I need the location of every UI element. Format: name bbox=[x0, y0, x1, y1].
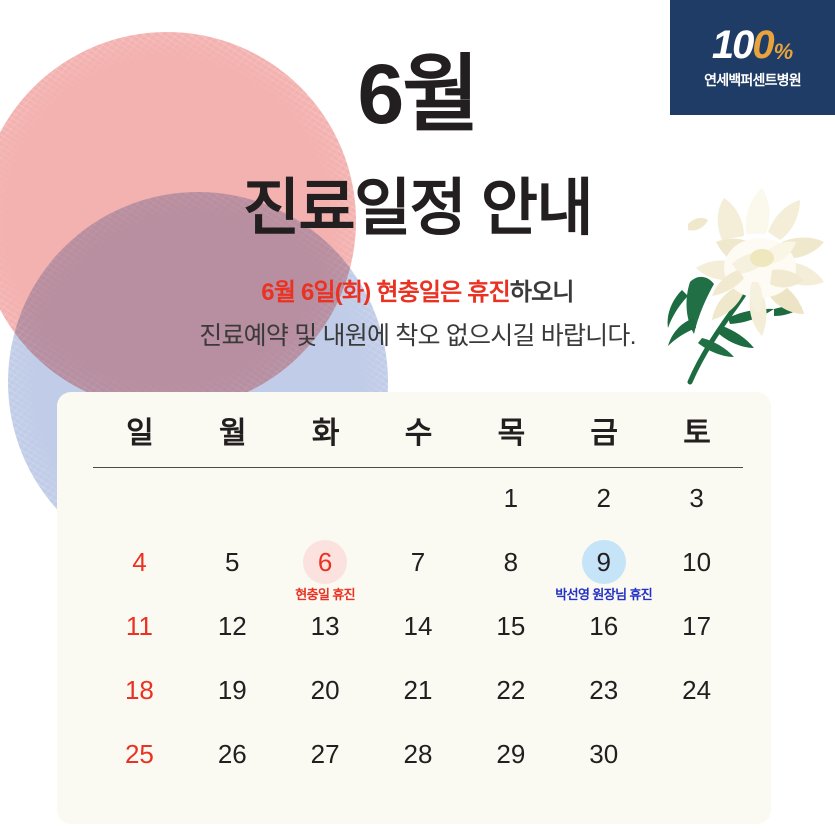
calendar-week-row: 123 bbox=[93, 476, 743, 540]
day-number: 29 bbox=[489, 732, 533, 776]
day-number: 19 bbox=[210, 668, 254, 712]
calendar-day-3[interactable]: 3 bbox=[650, 476, 743, 540]
calendar-day-16[interactable]: 16 bbox=[557, 604, 650, 668]
calendar-grid: 123456현충일 휴진789박선영 원장님 휴진101112131415161… bbox=[93, 476, 743, 796]
day-number: 4 bbox=[117, 540, 161, 584]
calendar-day-22[interactable]: 22 bbox=[464, 668, 557, 732]
header-divider bbox=[93, 467, 743, 468]
day-number: 6 bbox=[303, 540, 347, 584]
calendar-day-5[interactable]: 5 bbox=[186, 540, 279, 604]
calendar-day-12[interactable]: 12 bbox=[186, 604, 279, 668]
day-number: 24 bbox=[675, 668, 719, 712]
calendar-day-28[interactable]: 28 bbox=[372, 732, 465, 796]
day-number: 2 bbox=[582, 476, 626, 520]
day-note: 현충일 휴진 bbox=[295, 584, 355, 603]
calendar-day-7[interactable]: 7 bbox=[372, 540, 465, 604]
calendar-day-23[interactable]: 23 bbox=[557, 668, 650, 732]
day-number: 22 bbox=[489, 668, 533, 712]
calendar-day-18[interactable]: 18 bbox=[93, 668, 186, 732]
day-number: 21 bbox=[396, 668, 440, 712]
calendar-week-row: 18192021222324 bbox=[93, 668, 743, 732]
day-number: 5 bbox=[210, 540, 254, 584]
weekday-wed: 수 bbox=[372, 408, 465, 452]
notice-highlight: 6월 6일(화) 현충일은 휴진 bbox=[261, 279, 510, 306]
calendar-day-10[interactable]: 10 bbox=[650, 540, 743, 604]
calendar-day-6[interactable]: 6현충일 휴진 bbox=[279, 540, 372, 604]
calendar-week-row: 252627282930 bbox=[93, 732, 743, 796]
calendar-day-9[interactable]: 9박선영 원장님 휴진 bbox=[557, 540, 650, 604]
day-number: 7 bbox=[396, 540, 440, 584]
flower-petals-group bbox=[688, 188, 824, 336]
day-note: 박선영 원장님 휴진 bbox=[555, 584, 652, 603]
page-title-month: 6월 bbox=[0, 52, 835, 136]
day-number: 14 bbox=[396, 604, 440, 648]
weekday-tue: 화 bbox=[279, 408, 372, 452]
calendar-day-13[interactable]: 13 bbox=[279, 604, 372, 668]
day-number: 20 bbox=[303, 668, 347, 712]
day-number: 12 bbox=[210, 604, 254, 648]
calendar-day-15[interactable]: 15 bbox=[464, 604, 557, 668]
calendar-week-row: 11121314151617 bbox=[93, 604, 743, 668]
calendar-panel: 일 월 화 수 목 금 토 123456현충일 휴진789박선영 원장님 휴진1… bbox=[57, 392, 771, 824]
weekday-thu: 목 bbox=[464, 408, 557, 452]
day-number: 28 bbox=[396, 732, 440, 776]
day-number: 23 bbox=[582, 668, 626, 712]
calendar-day-11[interactable]: 11 bbox=[93, 604, 186, 668]
calendar-day-24[interactable]: 24 bbox=[650, 668, 743, 732]
weekday-mon: 월 bbox=[186, 408, 279, 452]
calendar-day-4[interactable]: 4 bbox=[93, 540, 186, 604]
weekday-fri: 금 bbox=[557, 408, 650, 452]
day-number: 18 bbox=[117, 668, 161, 712]
day-number: 25 bbox=[117, 732, 161, 776]
calendar-day-14[interactable]: 14 bbox=[372, 604, 465, 668]
calendar-day-27[interactable]: 27 bbox=[279, 732, 372, 796]
day-number: 26 bbox=[210, 732, 254, 776]
calendar-poster: 10 0 % 연세백퍼센트병원 6월 진료일정 안내 6월 6일(화) 현충일은… bbox=[0, 0, 835, 834]
calendar-day-17[interactable]: 17 bbox=[650, 604, 743, 668]
day-number: 11 bbox=[117, 604, 161, 648]
calendar-day-26[interactable]: 26 bbox=[186, 732, 279, 796]
calendar-day-21[interactable]: 21 bbox=[372, 668, 465, 732]
calendar-week-row: 456현충일 휴진789박선영 원장님 휴진10 bbox=[93, 540, 743, 604]
day-number: 13 bbox=[303, 604, 347, 648]
calendar-day-25[interactable]: 25 bbox=[93, 732, 186, 796]
day-number: 15 bbox=[489, 604, 533, 648]
calendar-day-20[interactable]: 20 bbox=[279, 668, 372, 732]
calendar-day-8[interactable]: 8 bbox=[464, 540, 557, 604]
calendar-day-1[interactable]: 1 bbox=[464, 476, 557, 540]
weekday-sun: 일 bbox=[93, 408, 186, 452]
calendar-day-29[interactable]: 29 bbox=[464, 732, 557, 796]
day-number: 17 bbox=[675, 604, 719, 648]
day-number: 27 bbox=[303, 732, 347, 776]
day-number: 1 bbox=[489, 476, 533, 520]
calendar-day-2[interactable]: 2 bbox=[557, 476, 650, 540]
day-number: 16 bbox=[582, 604, 626, 648]
chrysanthemum-flower-icon bbox=[662, 178, 834, 390]
notice-rest: 하오니 bbox=[510, 279, 574, 306]
day-number: 10 bbox=[675, 540, 719, 584]
calendar-day-30[interactable]: 30 bbox=[557, 732, 650, 796]
day-number: 3 bbox=[675, 476, 719, 520]
weekday-header-row: 일 월 화 수 목 금 토 bbox=[93, 408, 743, 452]
weekday-sat: 토 bbox=[650, 408, 743, 452]
day-number: 30 bbox=[582, 732, 626, 776]
calendar-day-19[interactable]: 19 bbox=[186, 668, 279, 732]
day-number: 8 bbox=[489, 540, 533, 584]
day-number: 9 bbox=[582, 540, 626, 584]
